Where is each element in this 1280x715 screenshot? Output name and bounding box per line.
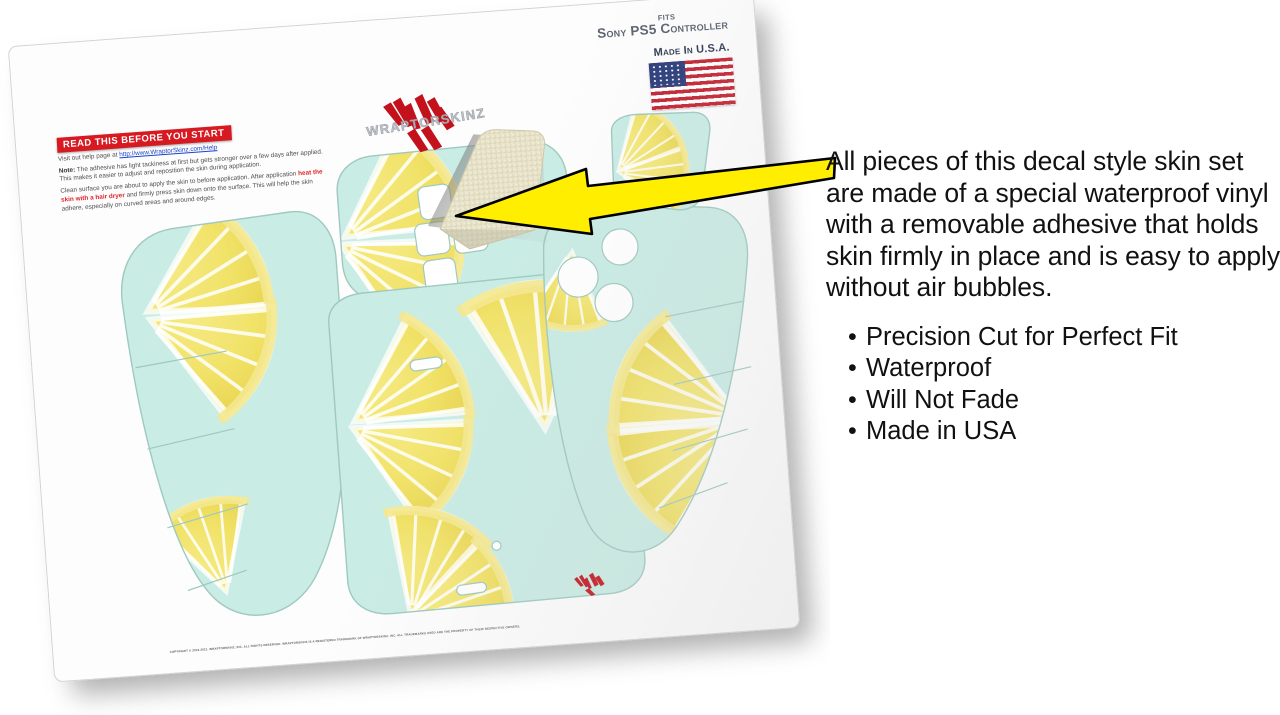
feature-item: Waterproof — [848, 353, 1280, 385]
note-label: Note: — [59, 166, 76, 174]
feature-item: Will Not Fade — [848, 385, 1280, 417]
us-flag-icon — [649, 57, 736, 110]
description-paragraph: All pieces of this decal style skin set … — [826, 146, 1280, 304]
decal-sheet-photo: FITS Sony PS5 Controller Made In U.S.A. — [0, 0, 830, 715]
skin-sheet: FITS Sony PS5 Controller Made In U.S.A. — [8, 0, 801, 683]
feature-item: Made in USA — [848, 416, 1280, 448]
yellow-pointer-arrow — [440, 146, 840, 261]
wraptorskinz-watermark — [568, 569, 616, 598]
flag-canton — [649, 61, 687, 89]
help-lead-text: Visit out help page at — [58, 151, 120, 162]
marketing-copy: All pieces of this decal style skin set … — [826, 146, 1280, 448]
product-image-canvas: FITS Sony PS5 Controller Made In U.S.A. — [0, 0, 1280, 715]
feature-list: Precision Cut for Perfect Fit Waterproof… — [826, 322, 1280, 448]
feature-item: Precision Cut for Perfect Fit — [848, 322, 1280, 354]
flag-stars — [651, 63, 684, 86]
